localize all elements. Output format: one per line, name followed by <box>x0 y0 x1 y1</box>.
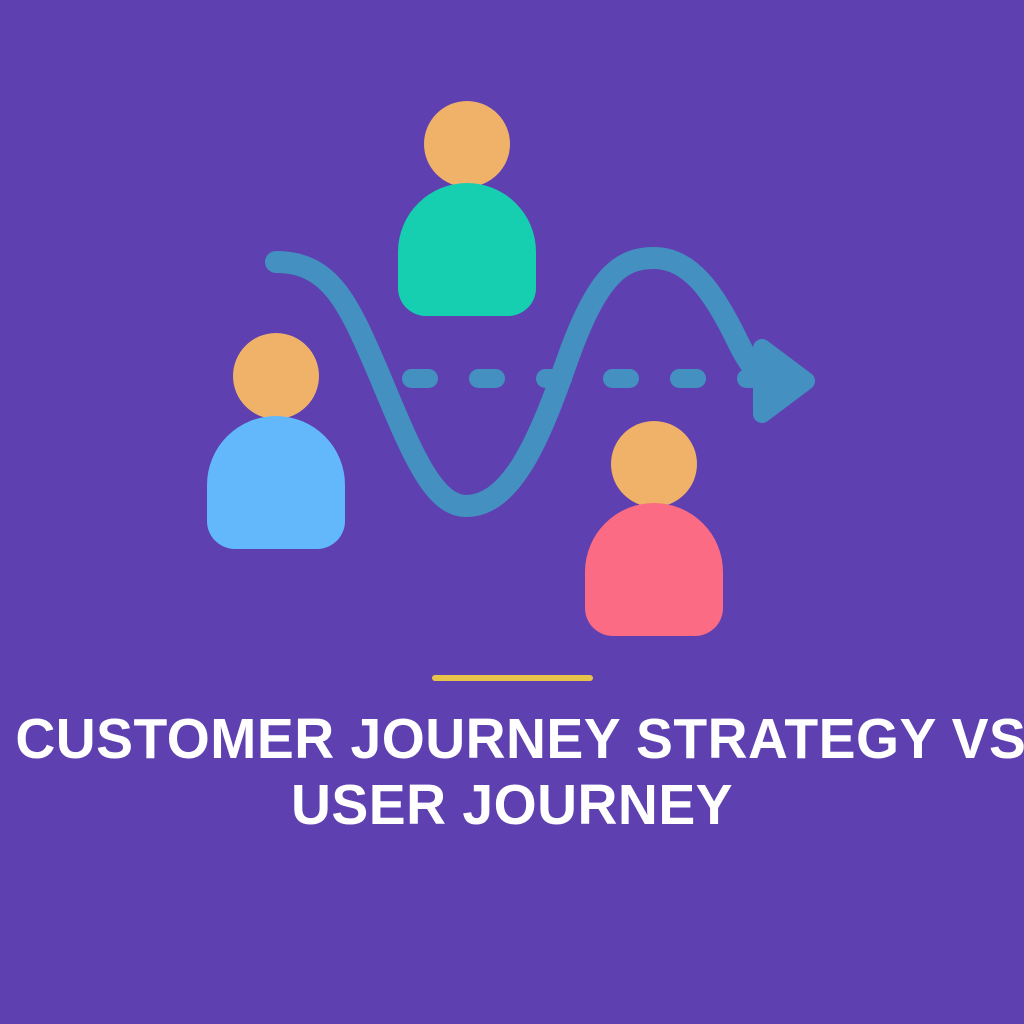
person-head-icon <box>233 333 319 419</box>
person-head-icon <box>611 421 697 507</box>
person-body-icon <box>585 503 723 636</box>
page-title-line-2: User Journey <box>15 772 1008 838</box>
illustration-svg <box>0 0 1024 660</box>
journey-dashed-line <box>402 369 773 388</box>
person-icon-top <box>398 101 536 316</box>
customer-journey-illustration <box>0 0 1024 660</box>
title-divider <box>432 675 593 681</box>
page-title: Customer Journey Strategy vs User Journe… <box>0 706 1024 838</box>
person-head-icon <box>424 101 510 187</box>
person-body-icon <box>207 416 345 549</box>
person-body-icon <box>398 183 536 316</box>
page-title-line-1: Customer Journey Strategy vs <box>15 706 1008 772</box>
poster-canvas: Customer Journey Strategy vs User Journe… <box>0 0 1024 1024</box>
person-icon-left <box>207 333 345 549</box>
person-icon-right <box>585 421 723 636</box>
